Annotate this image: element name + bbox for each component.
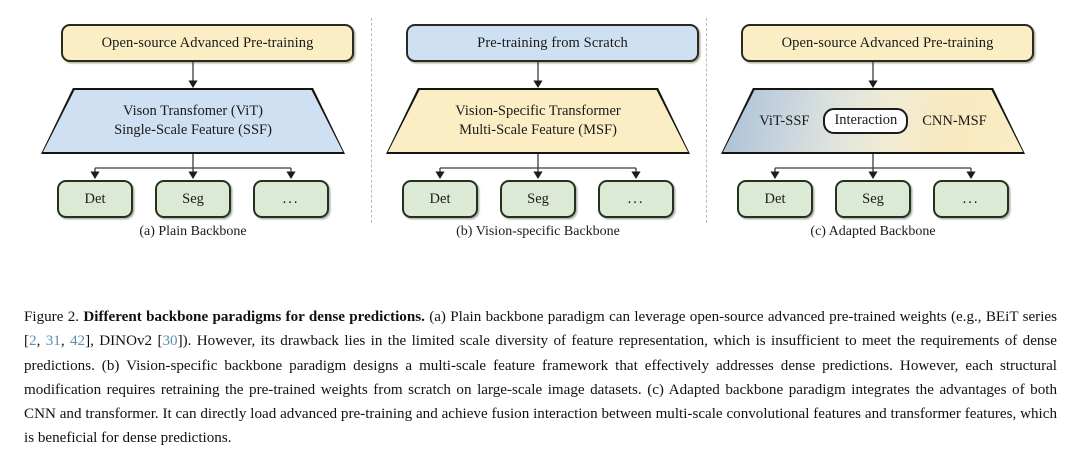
cnn-msf-label: CNN-MSF xyxy=(922,113,986,130)
task-box-more-c-label: ... xyxy=(963,191,980,208)
citation-2[interactable]: 2 xyxy=(29,333,37,349)
backbone-trapezoid-c: ViT-SSF Interaction CNN-MSF xyxy=(721,88,1025,154)
pretraining-box-c-label: Open-source Advanced Pre-training xyxy=(782,35,994,52)
figure-number: Figure 2. xyxy=(24,309,79,325)
panel-caption-b: (b) Vision-specific Backbone xyxy=(373,224,703,240)
citation-42[interactable]: 42 xyxy=(70,333,85,349)
backbone-trapezoid-a: Vison Transfomer (ViT) Single-Scale Feat… xyxy=(41,88,345,154)
trapezoid-label-b-line1: Vision-Specific Transformer xyxy=(455,102,620,121)
panel-vision-specific-backbone: Pre-training from Scratch Vision-Specifi… xyxy=(373,0,703,250)
task-box-seg-b-label: Seg xyxy=(527,191,549,208)
trapezoid-label-a-line2: Single-Scale Feature (SSF) xyxy=(114,121,272,140)
task-box-more-a-label: ... xyxy=(283,191,300,208)
trapezoid-label-c: ViT-SSF Interaction CNN-MSF xyxy=(721,88,1025,154)
pretraining-box-a-label: Open-source Advanced Pre-training xyxy=(102,35,314,52)
pretraining-box-a: Open-source Advanced Pre-training xyxy=(61,24,354,62)
task-box-more-b-label: ... xyxy=(628,191,645,208)
task-box-seg-c-label: Seg xyxy=(862,191,884,208)
task-box-more-b: ... xyxy=(598,180,674,218)
caption-sep-2: , xyxy=(61,333,70,349)
pretraining-box-b: Pre-training from Scratch xyxy=(406,24,699,62)
caption-title: Different backbone paradigms for dense p… xyxy=(83,309,425,325)
task-box-det-b: Det xyxy=(402,180,478,218)
citation-30[interactable]: 30 xyxy=(162,333,177,349)
task-box-det-a: Det xyxy=(57,180,133,218)
task-box-det-c: Det xyxy=(737,180,813,218)
task-box-seg-c: Seg xyxy=(835,180,911,218)
task-box-seg-b: Seg xyxy=(500,180,576,218)
trapezoid-label-b-line2: Multi-Scale Feature (MSF) xyxy=(459,121,617,140)
pretraining-box-b-label: Pre-training from Scratch xyxy=(477,35,628,52)
panel-caption-c: (c) Adapted Backbone xyxy=(708,224,1038,240)
task-box-det-c-label: Det xyxy=(765,191,786,208)
pretraining-box-c: Open-source Advanced Pre-training xyxy=(741,24,1034,62)
figure-caption: Figure 2. Different backbone paradigms f… xyxy=(24,305,1057,450)
panel-plain-backbone: Open-source Advanced Pre-training Vison … xyxy=(28,0,358,250)
interaction-pill: Interaction xyxy=(823,108,908,135)
trapezoid-label-b: Vision-Specific Transformer Multi-Scale … xyxy=(386,88,690,154)
trapezoid-label-a: Vison Transfomer (ViT) Single-Scale Feat… xyxy=(41,88,345,154)
task-box-more-c: ... xyxy=(933,180,1009,218)
task-box-more-a: ... xyxy=(253,180,329,218)
panel-divider-1 xyxy=(371,18,372,223)
caption-part-c: ]). However, its drawback lies in the li… xyxy=(24,333,1057,446)
task-box-det-b-label: Det xyxy=(430,191,451,208)
vit-ssf-label: ViT-SSF xyxy=(759,113,809,130)
panel-divider-2 xyxy=(706,18,707,223)
caption-part-b: ], DINOv2 [ xyxy=(85,333,162,349)
trapezoid-label-a-line1: Vison Transfomer (ViT) xyxy=(123,102,263,121)
citation-31[interactable]: 31 xyxy=(46,333,61,349)
panel-adapted-backbone: Open-source Advanced Pre-training ViT-SS… xyxy=(708,0,1038,250)
figure-diagram: Open-source Advanced Pre-training Vison … xyxy=(0,0,1080,250)
panel-caption-a: (a) Plain Backbone xyxy=(28,224,358,240)
task-box-seg-a-label: Seg xyxy=(182,191,204,208)
task-box-det-a-label: Det xyxy=(85,191,106,208)
caption-sep-1: , xyxy=(37,333,46,349)
task-box-seg-a: Seg xyxy=(155,180,231,218)
backbone-trapezoid-b: Vision-Specific Transformer Multi-Scale … xyxy=(386,88,690,154)
